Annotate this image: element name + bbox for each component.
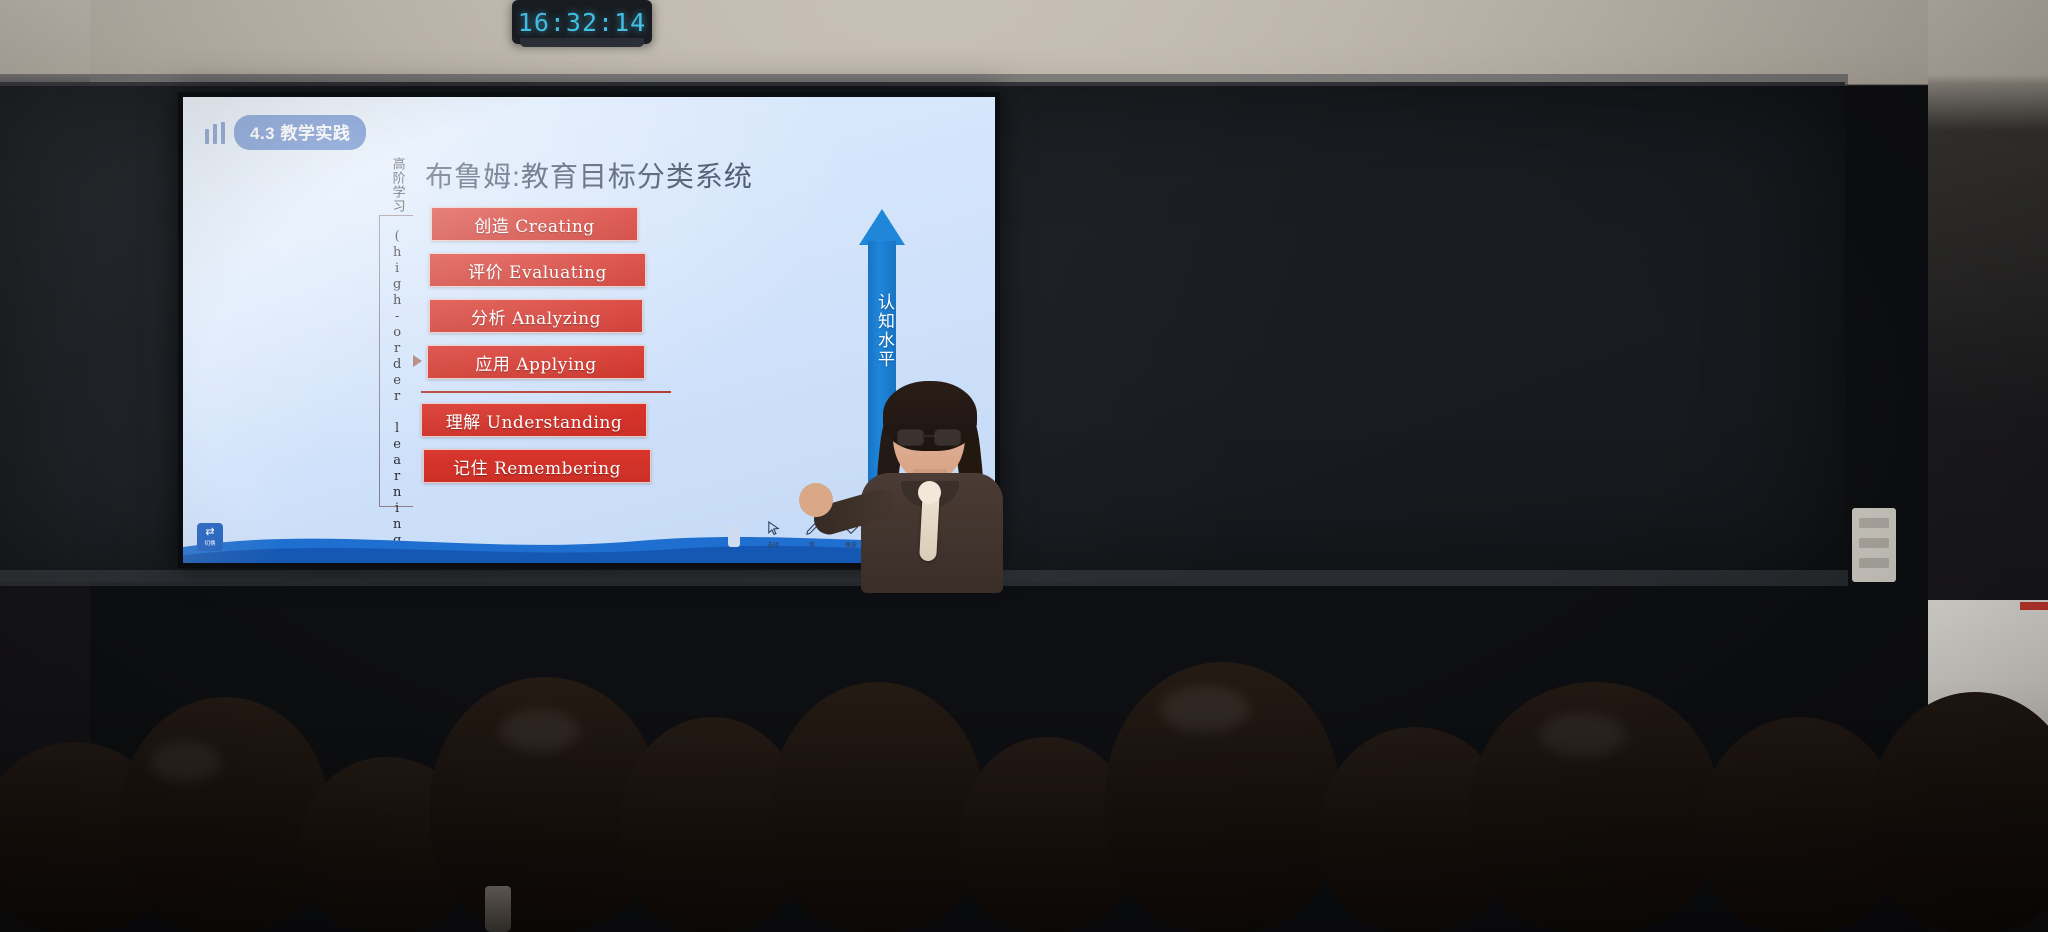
side-whiteboard	[1928, 600, 2048, 730]
bracket-arrow-icon	[413, 355, 422, 367]
bars-icon	[205, 122, 225, 144]
level-box-creating: 创造 Creating	[431, 207, 638, 241]
level-box-remembering: 记住 Remembering	[423, 449, 651, 483]
switch-label: 切换	[204, 539, 215, 547]
wall-control-panel	[1852, 508, 1896, 582]
high-order-learning-bracket: 高阶学习 (high-order learning)	[379, 215, 413, 507]
blackboard-top-frame	[0, 74, 1848, 86]
right-wall	[1928, 0, 2048, 932]
section-badge: 4.3 教学实践	[234, 115, 366, 150]
switch-button[interactable]: ⇄ 切换	[197, 523, 223, 551]
clock-time: 16:32:14	[518, 8, 646, 37]
level-box-analyzing: 分析 Analyzing	[429, 299, 643, 333]
whiteboard-red-marker-strip	[2020, 602, 2048, 610]
cognitive-level-label: 认知水平	[867, 293, 897, 369]
slide-title: 布鲁姆:教育目标分类系统	[183, 155, 995, 195]
microphone-head	[918, 481, 941, 504]
presenter-glasses-icon	[897, 429, 961, 444]
toolbar-cursor-label: 选择	[767, 540, 779, 549]
clock-stand	[520, 38, 644, 47]
level-box-applying: 应用 Applying	[427, 345, 645, 379]
classroom-scene: 16:32:14 4.3 教学实践 布鲁姆:教育目标分类系统 高阶学习 (hig…	[0, 0, 2048, 932]
level-divider	[421, 391, 671, 393]
toolbar-cursor-button[interactable]: 选择	[760, 519, 786, 549]
level-box-evaluating: 评价 Evaluating	[429, 253, 646, 287]
taxonomy-levels: 创造 Creating 评价 Evaluating 分析 Analyzing 应…	[427, 207, 677, 495]
toolbar-drag-handle[interactable]	[721, 525, 747, 549]
drag-handle-icon	[728, 525, 740, 547]
level-box-understanding: 理解 Understanding	[421, 403, 647, 437]
presenter	[805, 385, 1055, 590]
section-badge-row: 4.3 教学实践	[205, 115, 366, 150]
switch-icon: ⇄	[205, 527, 214, 538]
cursor-icon	[764, 519, 783, 538]
